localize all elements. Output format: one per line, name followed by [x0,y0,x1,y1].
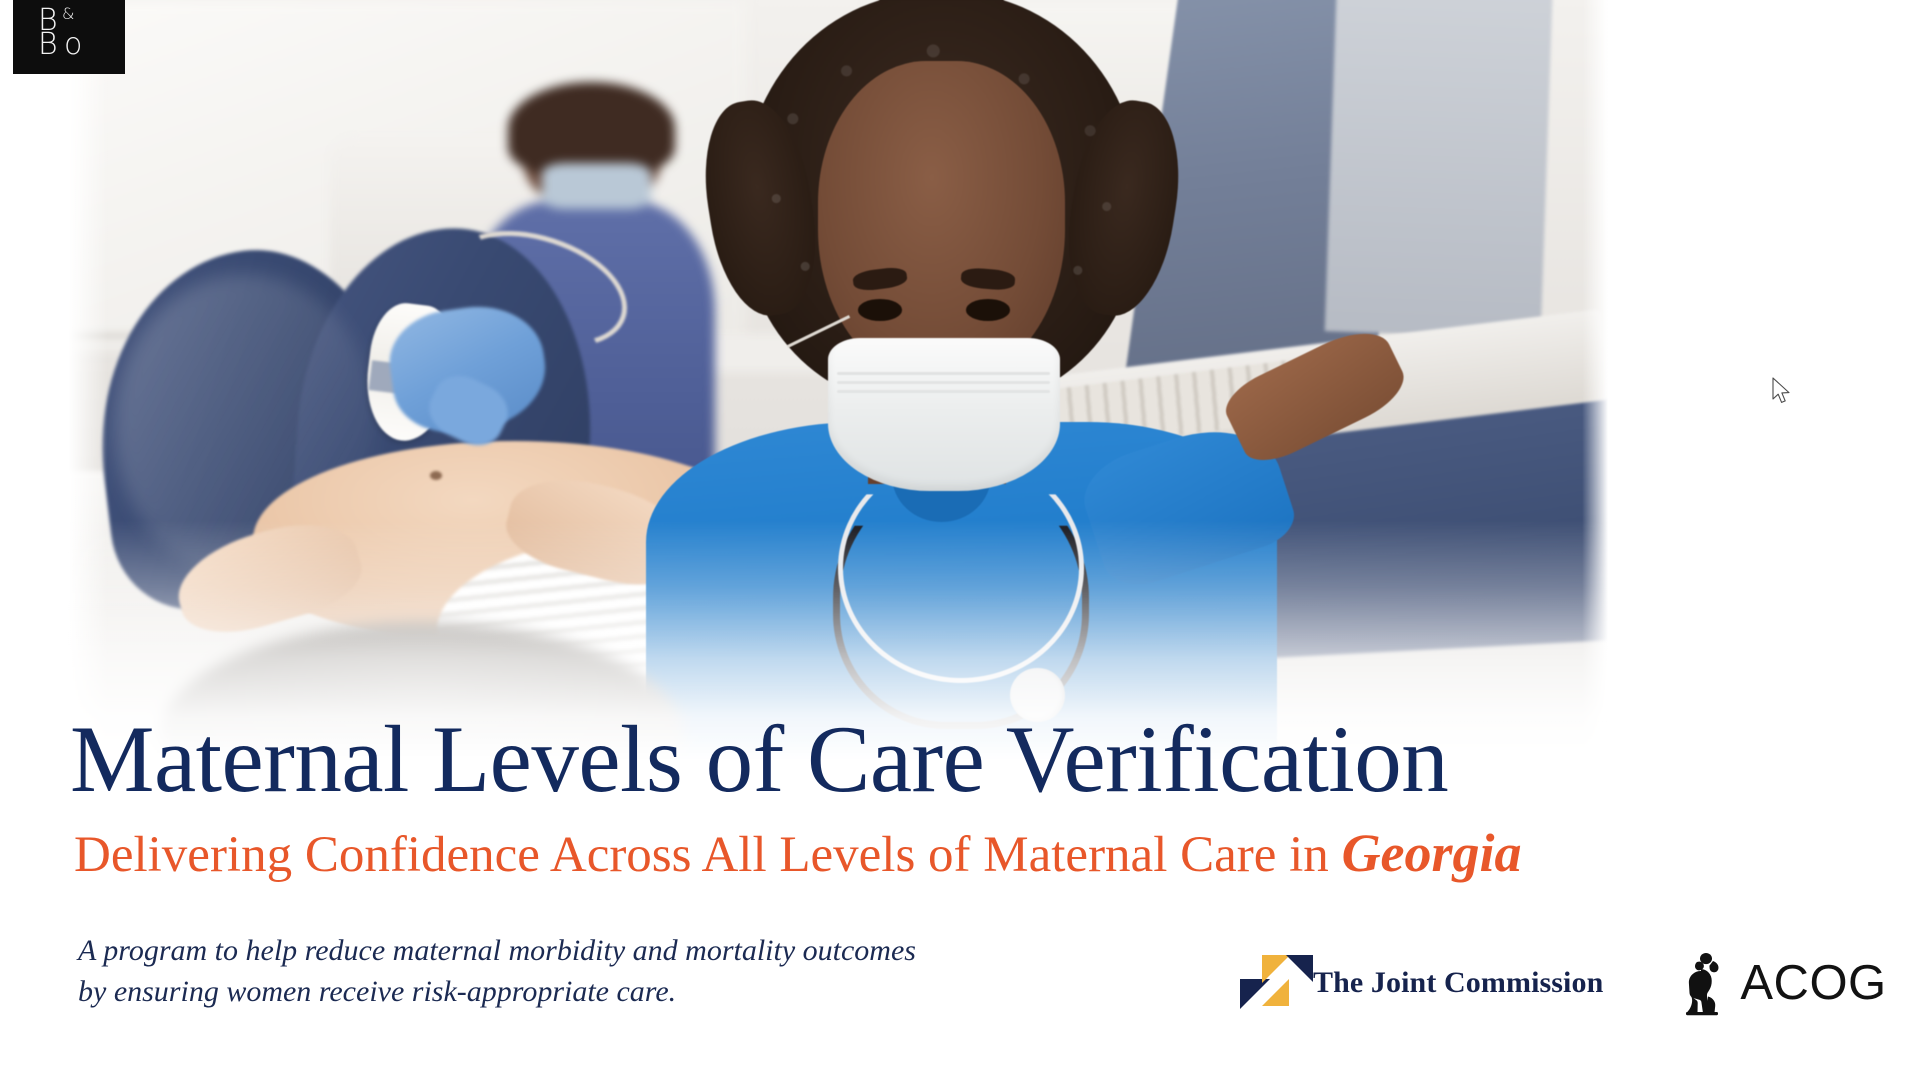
acog-logo: ACOG [1675,950,1886,1016]
ultrasound-exam-photo [68,0,1608,760]
page-title: Maternal Levels of Care Verification [70,712,1630,807]
acog-wordmark: ACOG [1740,955,1886,1011]
program-description: A program to help reduce maternal morbid… [78,930,938,1013]
subtitle-state-name: Georgia [1342,823,1522,883]
bo-logo-ampersand: & [62,6,74,22]
page-subtitle: Delivering Confidence Across All Levels … [74,826,1694,881]
joint-commission-wordmark: The Joint Commission [1313,966,1603,1000]
acog-mother-and-child-icon [1675,950,1731,1016]
bo-logo-letter-o: o [64,30,82,60]
foreground-clinician [715,0,1208,760]
bo-logo-letter-b2: B [38,30,58,60]
ultrasound-monitor-back [1324,0,1552,338]
partner-logos: The Joint Commission ACOG [1240,935,1860,1030]
joint-commission-logo: The Joint Commission [1240,953,1603,1013]
presentation-slide: B & B o [0,0,1920,1080]
joint-commission-arrow-icon [1240,953,1302,1013]
subtitle-lead-text: Delivering Confidence Across All Levels … [74,827,1342,883]
bo-logo-icon: B & B o [13,0,125,74]
arrow-cursor-icon [1772,377,1794,407]
